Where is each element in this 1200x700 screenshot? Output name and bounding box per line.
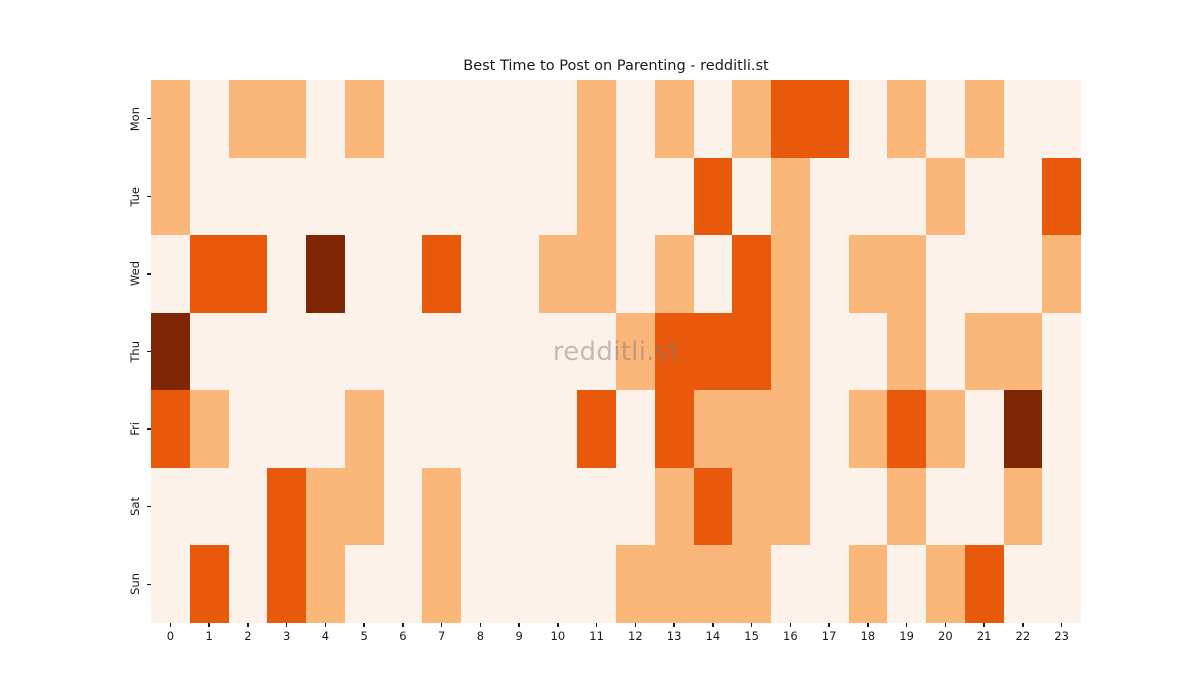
heatmap-cell — [539, 80, 578, 158]
y-tick-label: Sun — [130, 573, 142, 595]
heatmap-cell — [190, 545, 229, 623]
heatmap-cell — [500, 468, 539, 546]
y-tick-label: Thu — [130, 341, 142, 363]
x-tick-label: 10 — [551, 631, 566, 643]
y-tick-tue: Tue — [0, 158, 151, 236]
heatmap-cell — [345, 80, 384, 158]
x-tick-mark — [480, 623, 481, 627]
heatmap-cell — [810, 390, 849, 468]
heatmap-cell — [267, 158, 306, 236]
heatmap-cell — [926, 158, 965, 236]
heatmap-cell — [810, 80, 849, 158]
heatmap-cell — [306, 468, 345, 546]
x-tick-label: 14 — [706, 631, 721, 643]
heatmap-cell — [810, 158, 849, 236]
y-tick-sat: Sat — [0, 468, 151, 546]
heatmap-cell — [810, 468, 849, 546]
heatmap-cell — [267, 468, 306, 546]
x-tick-4: 4 — [306, 623, 345, 663]
heatmap-cell — [422, 313, 461, 391]
heatmap-cell — [461, 313, 500, 391]
heatmap-plot-area: redditli.st — [151, 80, 1081, 623]
heatmap-cell — [539, 158, 578, 236]
heatmap-cell — [616, 390, 655, 468]
heatmap-cell — [306, 235, 345, 313]
heatmap-cell — [849, 80, 888, 158]
heatmap-cell — [926, 468, 965, 546]
x-tick-label: 15 — [744, 631, 759, 643]
x-tick-23: 23 — [1042, 623, 1081, 663]
x-tick-mark — [790, 623, 791, 627]
x-tick-label: 9 — [515, 631, 522, 643]
x-tick-14: 14 — [694, 623, 733, 663]
heatmap-cell — [461, 80, 500, 158]
x-tick-9: 9 — [500, 623, 539, 663]
heatmap-cell — [577, 545, 616, 623]
heatmap-cell — [422, 468, 461, 546]
heatmap-cell — [616, 158, 655, 236]
heatmap-cell — [461, 158, 500, 236]
x-tick-17: 17 — [810, 623, 849, 663]
heatmap-cell — [461, 545, 500, 623]
heatmap-cell — [926, 390, 965, 468]
y-tick-label: Sat — [130, 497, 142, 516]
heatmap-cell — [926, 313, 965, 391]
x-tick-mark — [945, 623, 946, 627]
x-tick-mark — [518, 623, 519, 627]
heatmap-cell — [1004, 158, 1043, 236]
x-tick-7: 7 — [422, 623, 461, 663]
x-tick-mark — [596, 623, 597, 627]
x-tick-18: 18 — [849, 623, 888, 663]
x-tick-3: 3 — [267, 623, 306, 663]
heatmap-cell — [655, 235, 694, 313]
heatmap-cell — [500, 313, 539, 391]
heatmap-cell — [771, 545, 810, 623]
heatmap-cell — [384, 468, 423, 546]
y-tick-label: Wed — [130, 261, 142, 286]
heatmap-cell — [655, 468, 694, 546]
y-tick-fri: Fri — [0, 390, 151, 468]
heatmap-cell — [461, 390, 500, 468]
heatmap-cell — [267, 313, 306, 391]
heatmap-cell — [926, 235, 965, 313]
heatmap-cell — [384, 545, 423, 623]
heatmap-cell — [500, 235, 539, 313]
heatmap-cell — [732, 313, 771, 391]
heatmap-cell — [229, 80, 268, 158]
heatmap-cell — [965, 468, 1004, 546]
heatmap-cell — [732, 390, 771, 468]
heatmap-cell — [151, 313, 190, 391]
heatmap-cell — [732, 545, 771, 623]
figure-canvas: Best Time to Post on Parenting - redditl… — [0, 0, 1200, 700]
heatmap-cell — [577, 158, 616, 236]
heatmap-cell — [1004, 80, 1043, 158]
heatmap-cell — [694, 313, 733, 391]
heatmap-cell — [384, 390, 423, 468]
heatmap-cell — [384, 80, 423, 158]
x-tick-22: 22 — [1004, 623, 1043, 663]
x-tick-10: 10 — [539, 623, 578, 663]
heatmap-cell — [1004, 545, 1043, 623]
heatmap-cell — [577, 390, 616, 468]
x-tick-label: 11 — [589, 631, 604, 643]
heatmap-cell — [965, 390, 1004, 468]
heatmap-cell — [422, 158, 461, 236]
heatmap-cell — [151, 545, 190, 623]
heatmap-cell — [926, 80, 965, 158]
heatmap-cell — [190, 313, 229, 391]
y-tick-mon: Mon — [0, 80, 151, 158]
heatmap-cell — [229, 390, 268, 468]
y-tick-sun: Sun — [0, 545, 151, 623]
heatmap-cell — [190, 158, 229, 236]
x-tick-16: 16 — [771, 623, 810, 663]
heatmap-cell — [267, 545, 306, 623]
heatmap-cell — [732, 158, 771, 236]
heatmap-cell — [965, 545, 1004, 623]
heatmap-cell — [887, 468, 926, 546]
heatmap-cell — [306, 545, 345, 623]
x-tick-mark — [557, 623, 558, 627]
heatmap-cell — [461, 468, 500, 546]
heatmap-cell — [345, 235, 384, 313]
heatmap-cell — [810, 313, 849, 391]
x-tick-label: 18 — [861, 631, 876, 643]
heatmap-cell — [345, 158, 384, 236]
heatmap-cell — [577, 235, 616, 313]
heatmap-cell — [810, 545, 849, 623]
x-tick-mark — [867, 623, 868, 627]
heatmap-cell — [887, 313, 926, 391]
x-tick-mark — [635, 623, 636, 627]
x-tick-label: 5 — [360, 631, 367, 643]
x-tick-label: 12 — [628, 631, 643, 643]
heatmap-cell — [267, 390, 306, 468]
x-tick-label: 22 — [1016, 631, 1031, 643]
x-tick-mark — [983, 623, 984, 627]
x-tick-mark — [286, 623, 287, 627]
x-tick-mark — [1022, 623, 1023, 627]
x-axis: 01234567891011121314151617181920212223 — [151, 623, 1081, 663]
x-tick-19: 19 — [887, 623, 926, 663]
x-tick-label: 13 — [667, 631, 682, 643]
heatmap-cell — [539, 545, 578, 623]
heatmap-cell — [616, 468, 655, 546]
heatmap-cell — [771, 313, 810, 391]
x-tick-mark — [1061, 623, 1062, 627]
heatmap-cell — [151, 390, 190, 468]
heatmap-cell — [771, 468, 810, 546]
heatmap-cell — [887, 235, 926, 313]
x-tick-mark — [751, 623, 752, 627]
heatmap-cell — [422, 545, 461, 623]
x-tick-label: 7 — [438, 631, 445, 643]
heatmap-cell — [151, 468, 190, 546]
heatmap-cell — [1042, 158, 1081, 236]
heatmap-cell — [151, 158, 190, 236]
x-tick-5: 5 — [345, 623, 384, 663]
x-tick-15: 15 — [732, 623, 771, 663]
x-tick-label: 19 — [899, 631, 914, 643]
heatmap-cell — [306, 390, 345, 468]
heatmap-cell — [616, 80, 655, 158]
heatmap-cell — [190, 468, 229, 546]
x-tick-mark — [906, 623, 907, 627]
x-tick-13: 13 — [655, 623, 694, 663]
heatmap-cell — [1042, 313, 1081, 391]
heatmap-cell — [655, 80, 694, 158]
heatmap-cell — [616, 235, 655, 313]
x-tick-mark — [247, 623, 248, 627]
heatmap-cell — [1004, 468, 1043, 546]
heatmap-cell — [616, 313, 655, 391]
heatmap-cell — [306, 80, 345, 158]
heatmap-cell — [422, 235, 461, 313]
heatmap-cell — [965, 313, 1004, 391]
heatmap-cell — [655, 390, 694, 468]
heatmap-cell — [384, 235, 423, 313]
heatmap-cell — [1004, 313, 1043, 391]
heatmap-cell — [1042, 80, 1081, 158]
heatmap-cell — [849, 313, 888, 391]
x-tick-mark — [363, 623, 364, 627]
heatmap-cell — [771, 235, 810, 313]
y-axis: MonTueWedThuFriSatSun — [0, 80, 151, 623]
heatmap-cell — [694, 390, 733, 468]
heatmap-cell — [384, 313, 423, 391]
heatmap-cell — [1042, 545, 1081, 623]
heatmap-cell — [771, 158, 810, 236]
heatmap-cell — [849, 390, 888, 468]
heatmap-cell — [461, 235, 500, 313]
heatmap-cell — [577, 313, 616, 391]
x-tick-label: 21 — [977, 631, 992, 643]
heatmap-cell — [887, 158, 926, 236]
heatmap-grid — [151, 80, 1081, 623]
heatmap-cell — [1042, 390, 1081, 468]
x-tick-label: 4 — [322, 631, 329, 643]
x-tick-label: 0 — [167, 631, 174, 643]
x-tick-label: 16 — [783, 631, 798, 643]
heatmap-cell — [655, 313, 694, 391]
heatmap-cell — [655, 158, 694, 236]
x-tick-21: 21 — [965, 623, 1004, 663]
x-tick-0: 0 — [151, 623, 190, 663]
heatmap-cell — [694, 235, 733, 313]
x-tick-label: 17 — [822, 631, 837, 643]
x-tick-mark — [828, 623, 829, 627]
heatmap-cell — [190, 80, 229, 158]
heatmap-cell — [500, 80, 539, 158]
x-tick-1: 1 — [190, 623, 229, 663]
heatmap-cell — [577, 80, 616, 158]
x-tick-mark — [170, 623, 171, 627]
heatmap-cell — [732, 80, 771, 158]
heatmap-cell — [577, 468, 616, 546]
x-tick-label: 6 — [399, 631, 406, 643]
heatmap-cell — [732, 235, 771, 313]
x-tick-mark — [208, 623, 209, 627]
heatmap-cell — [849, 468, 888, 546]
x-tick-label: 2 — [244, 631, 251, 643]
heatmap-cell — [500, 390, 539, 468]
heatmap-cell — [887, 80, 926, 158]
heatmap-cell — [1042, 468, 1081, 546]
y-tick-thu: Thu — [0, 313, 151, 391]
heatmap-cell — [539, 235, 578, 313]
x-tick-label: 3 — [283, 631, 290, 643]
heatmap-cell — [810, 235, 849, 313]
heatmap-cell — [616, 545, 655, 623]
heatmap-cell — [694, 468, 733, 546]
x-tick-20: 20 — [926, 623, 965, 663]
heatmap-cell — [345, 545, 384, 623]
heatmap-cell — [306, 158, 345, 236]
x-tick-mark — [441, 623, 442, 627]
heatmap-cell — [229, 468, 268, 546]
heatmap-cell — [887, 545, 926, 623]
heatmap-cell — [655, 545, 694, 623]
heatmap-cell — [500, 545, 539, 623]
heatmap-cell — [849, 545, 888, 623]
heatmap-cell — [539, 390, 578, 468]
heatmap-cell — [694, 158, 733, 236]
x-tick-mark — [673, 623, 674, 627]
x-tick-label: 8 — [477, 631, 484, 643]
heatmap-cell — [151, 235, 190, 313]
heatmap-cell — [694, 545, 733, 623]
x-tick-mark — [712, 623, 713, 627]
heatmap-cell — [1004, 235, 1043, 313]
heatmap-cell — [151, 80, 190, 158]
heatmap-cell — [229, 313, 268, 391]
heatmap-cell — [306, 313, 345, 391]
heatmap-cell — [965, 235, 1004, 313]
x-tick-12: 12 — [616, 623, 655, 663]
heatmap-cell — [965, 158, 1004, 236]
heatmap-cell — [1004, 390, 1043, 468]
x-tick-6: 6 — [384, 623, 423, 663]
heatmap-cell — [345, 313, 384, 391]
heatmap-cell — [190, 390, 229, 468]
x-tick-label: 1 — [205, 631, 212, 643]
heatmap-cell — [771, 80, 810, 158]
heatmap-cell — [539, 468, 578, 546]
heatmap-cell — [229, 235, 268, 313]
heatmap-cell — [694, 80, 733, 158]
heatmap-cell — [229, 545, 268, 623]
heatmap-cell — [849, 158, 888, 236]
y-tick-wed: Wed — [0, 235, 151, 313]
heatmap-cell — [732, 468, 771, 546]
heatmap-cell — [849, 235, 888, 313]
heatmap-cell — [190, 235, 229, 313]
y-tick-label: Fri — [130, 422, 142, 436]
heatmap-cell — [539, 313, 578, 391]
heatmap-cell — [267, 80, 306, 158]
heatmap-cell — [345, 468, 384, 546]
heatmap-cell — [229, 158, 268, 236]
y-tick-label: Mon — [130, 107, 142, 131]
page-title: Best Time to Post on Parenting - redditl… — [151, 58, 1081, 74]
heatmap-cell — [771, 390, 810, 468]
y-tick-label: Tue — [130, 187, 142, 207]
heatmap-cell — [384, 158, 423, 236]
heatmap-cell — [1042, 235, 1081, 313]
heatmap-cell — [267, 235, 306, 313]
heatmap-cell — [345, 390, 384, 468]
heatmap-cell — [926, 545, 965, 623]
heatmap-cell — [500, 158, 539, 236]
heatmap-cell — [965, 80, 1004, 158]
heatmap-cell — [422, 80, 461, 158]
x-tick-label: 20 — [938, 631, 953, 643]
x-tick-2: 2 — [229, 623, 268, 663]
x-tick-mark — [325, 623, 326, 627]
x-tick-11: 11 — [577, 623, 616, 663]
heatmap-cell — [887, 390, 926, 468]
x-tick-mark — [402, 623, 403, 627]
heatmap-cell — [422, 390, 461, 468]
x-tick-label: 23 — [1054, 631, 1069, 643]
x-tick-8: 8 — [461, 623, 500, 663]
